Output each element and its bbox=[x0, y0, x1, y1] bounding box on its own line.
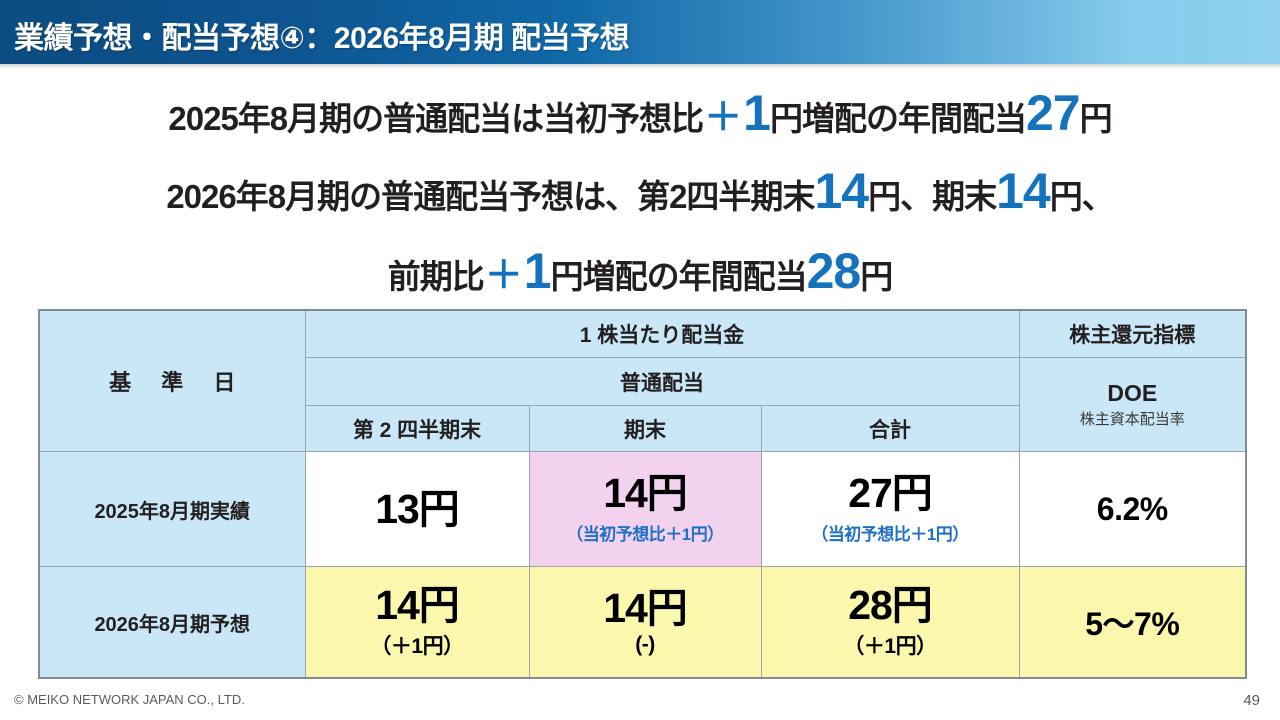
cell-fy2026-total-note: （＋1円） bbox=[762, 630, 1019, 660]
cell-fy2026-total-unit: 円 bbox=[892, 582, 932, 628]
headline-3-plus: ＋ bbox=[484, 255, 524, 297]
table-header-year-end-label: 期末 bbox=[624, 419, 666, 442]
cell-fy2025-q2: 13円 bbox=[305, 452, 529, 567]
dividend-table-wrapper: 基 準 日 1 株当たり配当金 株主還元指標 普通配当 DOE 株主資本配当率 bbox=[38, 309, 1245, 679]
header-shadow-divider bbox=[0, 64, 1280, 69]
cell-fy2026-q2-value: 14 bbox=[375, 582, 419, 628]
headline-3-number-1: 1 bbox=[524, 243, 551, 299]
headline-1-text-b: 円増配の年間配当 bbox=[770, 100, 1026, 137]
headline-2-number-1: 14 bbox=[814, 163, 868, 219]
cell-fy2025-total: 27円 （当初予想比＋1円） bbox=[761, 452, 1019, 567]
cell-fy2026-q2: 14円 （＋1円） bbox=[305, 567, 529, 679]
page-title: 業績予想・配当予想④：2026年8月期 配当予想 bbox=[14, 13, 629, 57]
cell-fy2026-year-end: 14円 (-) bbox=[529, 567, 761, 679]
table-header-row-1: 基 準 日 1 株当たり配当金 株主還元指標 bbox=[39, 310, 1246, 358]
footer-copyright: © MEIKO NETWORK JAPAN CO., LTD. bbox=[14, 692, 245, 707]
headline-3-text-b: 円増配の年間配当 bbox=[551, 258, 807, 295]
headline-line-3: 前期比＋1円増配の年間配当28円 bbox=[0, 246, 1280, 296]
headline-2-number-2: 14 bbox=[996, 163, 1050, 219]
table-header-doe-sublabel: 株主資本配当率 bbox=[1020, 408, 1246, 429]
headline-1-plus: ＋ bbox=[703, 97, 743, 139]
dividend-table: 基 準 日 1 株当たり配当金 株主還元指標 普通配当 DOE 株主資本配当率 bbox=[38, 309, 1247, 679]
cell-fy2025-year-end-unit: 円 bbox=[647, 470, 687, 516]
table-header-doe: DOE 株主資本配当率 bbox=[1019, 358, 1246, 452]
table-row: 2025年8月期実績 13円 14円 （当初予想比＋1円） 27円 （当初予想比… bbox=[39, 452, 1246, 567]
cell-fy2026-year-end-note: (-) bbox=[530, 633, 761, 657]
table-header-shareholder-return: 株主還元指標 bbox=[1019, 310, 1246, 358]
footer-page-number: 49 bbox=[1243, 692, 1260, 709]
table-header-shareholder-return-label: 株主還元指標 bbox=[1069, 324, 1195, 347]
headline-1-number-1: 1 bbox=[743, 85, 770, 141]
cell-fy2025-doe: 6.2% bbox=[1019, 452, 1246, 567]
headline-3-text-a: 前期比 bbox=[388, 258, 484, 295]
headline-block: 2025年8月期の普通配当は当初予想比＋1円増配の年間配当27円 2026年8月… bbox=[0, 74, 1280, 296]
row-label-fy2026: 2026年8月期予想 bbox=[39, 567, 305, 679]
headline-1-text-c: 円 bbox=[1080, 100, 1112, 137]
headline-1-number-2: 27 bbox=[1026, 85, 1080, 141]
headline-2-text-b: 円、期末 bbox=[868, 178, 996, 215]
row-label-fy2026-text: 2026年8月期予想 bbox=[94, 614, 250, 636]
headline-1-text-a: 2025年8月期の普通配当は当初予想比 bbox=[168, 100, 703, 137]
cell-fy2025-year-end-value: 14 bbox=[603, 470, 647, 516]
row-label-fy2025-text: 2025年8月期実績 bbox=[94, 501, 250, 523]
headline-2-text-c: 円、 bbox=[1050, 178, 1114, 215]
headline-line-2: 2026年8月期の普通配当予想は、第2四半期末14円、期末14円、 bbox=[0, 166, 1280, 216]
cell-fy2025-q2-value: 13 bbox=[375, 486, 419, 532]
cell-fy2026-total: 28円 （＋1円） bbox=[761, 567, 1019, 679]
cell-fy2026-doe: 5〜7% bbox=[1019, 567, 1246, 679]
table-header-per-share-dividend: 1 株当たり配当金 bbox=[305, 310, 1019, 358]
cell-fy2026-year-end-value: 14 bbox=[603, 585, 647, 631]
headline-3-number-2: 28 bbox=[807, 243, 861, 299]
table-header-q2-end-label: 第 2 四半期末 bbox=[353, 419, 481, 442]
table-header-record-date: 基 準 日 bbox=[39, 310, 305, 452]
table-header-ordinary-dividend-label: 普通配当 bbox=[620, 372, 704, 395]
table-header-per-share-dividend-label: 1 株当たり配当金 bbox=[580, 324, 745, 347]
cell-fy2025-doe-value: 6.2% bbox=[1097, 491, 1168, 527]
table-header-total: 合計 bbox=[761, 406, 1019, 452]
cell-fy2025-year-end-note: （当初予想比＋1円） bbox=[530, 520, 761, 545]
headline-2-text-a: 2026年8月期の普通配当予想は、第2四半期末 bbox=[166, 178, 814, 215]
table-header-doe-label: DOE bbox=[1107, 380, 1157, 406]
table-header-year-end: 期末 bbox=[529, 406, 761, 452]
cell-fy2026-q2-unit: 円 bbox=[419, 582, 459, 628]
row-label-fy2025: 2025年8月期実績 bbox=[39, 452, 305, 567]
cell-fy2026-year-end-unit: 円 bbox=[647, 585, 687, 631]
cell-fy2025-q2-unit: 円 bbox=[419, 486, 459, 532]
cell-fy2026-q2-note: （＋1円） bbox=[306, 630, 529, 660]
cell-fy2026-total-value: 28 bbox=[848, 582, 892, 628]
headline-line-1: 2025年8月期の普通配当は当初予想比＋1円増配の年間配当27円 bbox=[0, 88, 1280, 138]
table-header-record-date-label: 基 準 日 bbox=[97, 370, 247, 395]
table-header-q2-end: 第 2 四半期末 bbox=[305, 406, 529, 452]
cell-fy2025-total-unit: 円 bbox=[892, 470, 932, 516]
headline-3-text-c: 円 bbox=[860, 258, 892, 295]
cell-fy2025-total-note: （当初予想比＋1円） bbox=[762, 520, 1019, 545]
slide-header-band: 業績予想・配当予想④：2026年8月期 配当予想 bbox=[0, 0, 1280, 64]
cell-fy2025-year-end: 14円 （当初予想比＋1円） bbox=[529, 452, 761, 567]
table-row: 2026年8月期予想 14円 （＋1円） 14円 (-) 28円 （＋1円） 5… bbox=[39, 567, 1246, 679]
table-header-total-label: 合計 bbox=[869, 419, 911, 442]
cell-fy2025-total-value: 27 bbox=[848, 470, 892, 516]
cell-fy2026-doe-value: 5〜7% bbox=[1085, 606, 1179, 642]
table-header-ordinary-dividend: 普通配当 bbox=[305, 358, 1019, 406]
